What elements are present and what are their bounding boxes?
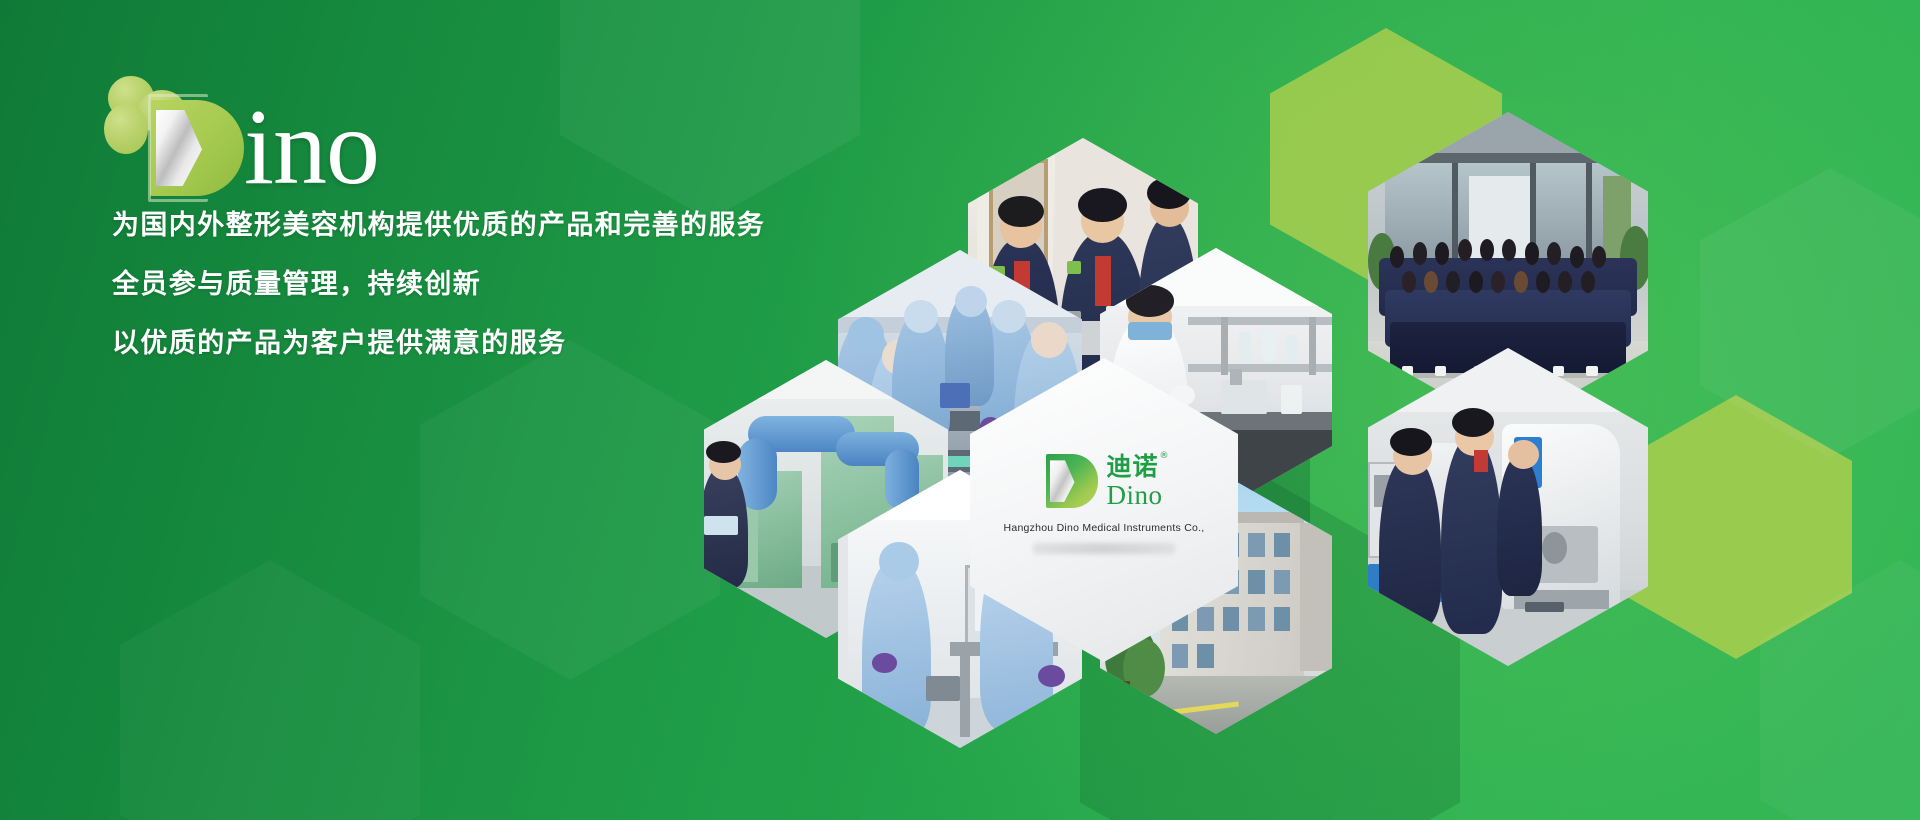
dino-d-mark-icon: [1046, 454, 1098, 508]
hero-text-column: ino 为国内外整形美容机构提供优质的产品和完善的服务 全员参与质量管理，持续创…: [0, 0, 900, 820]
dino-d-mark-icon: [150, 100, 244, 196]
registered-trademark-icon: ®: [1160, 452, 1170, 461]
slogan-line-2: 全员参与质量管理，持续创新: [112, 271, 872, 298]
brand-logo[interactable]: ino: [104, 72, 434, 192]
blurred-text-line: [1033, 543, 1175, 554]
slogan-list: 为国内外整形美容机构提供优质的产品和完善的服务 全员参与质量管理，持续创新 以优…: [112, 212, 872, 357]
brand-name-cn: 迪诺®: [1107, 454, 1159, 480]
brand-name-en: Dino: [1107, 482, 1163, 509]
badge-logo-lockup: 迪诺® Dino: [1046, 454, 1163, 508]
badge-brand-text: 迪诺® Dino: [1107, 454, 1163, 508]
brand-wordmark: ino: [244, 94, 379, 202]
hex-photo-cnc-workshop[interactable]: [1368, 348, 1648, 666]
slogan-line-1: 为国内外整形美容机构提供优质的产品和完善的服务: [112, 212, 872, 239]
hexagon-photo-cluster: 迪诺® Dino Hangzhou Dino Medical Instrumen…: [820, 0, 1920, 820]
slogan-line-3: 以优质的产品为客户提供满意的服务: [112, 330, 872, 357]
photo-cnc-workshop: [1368, 348, 1648, 666]
leaf-icon: [104, 104, 148, 154]
hero-banner: ino 为国内外整形美容机构提供优质的产品和完善的服务 全员参与质量管理，持续创…: [0, 0, 1920, 820]
company-name-line: Hangzhou Dino Medical Instruments Co.,: [1004, 522, 1205, 534]
